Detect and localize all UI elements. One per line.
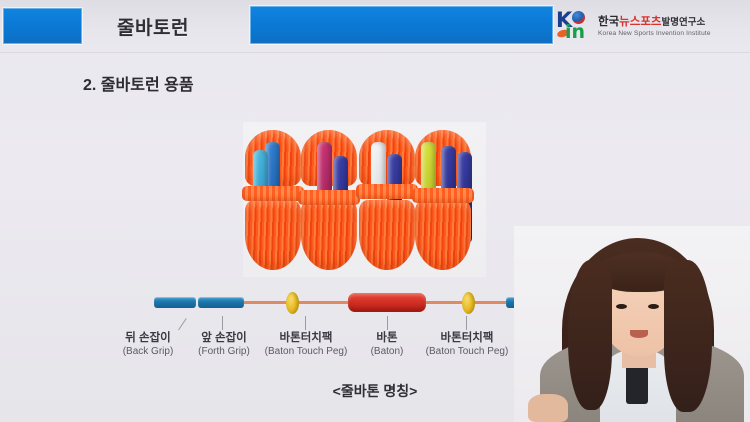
- rope-coil-bottom: [359, 200, 415, 270]
- presenter-hand: [528, 394, 568, 422]
- presenter-hair-right: [664, 260, 712, 412]
- leader-line-baton: [387, 316, 388, 330]
- callout-label-en: (Baton): [357, 345, 417, 358]
- rope-bundle-photo: [243, 122, 486, 277]
- presenter-eye-right: [648, 304, 659, 309]
- rope-coil-bottom: [245, 200, 301, 270]
- logo-korean-prefix: 한국: [598, 16, 619, 28]
- rope-bundle-1: [245, 130, 301, 270]
- rope-band: [356, 184, 418, 199]
- rope-bundle-4: [415, 130, 471, 270]
- leader-line-peg-left: [305, 316, 306, 330]
- rope-bundle-2: [301, 130, 357, 270]
- callout-label-en: (Back Grip): [112, 345, 184, 358]
- rope-coil-bottom: [301, 200, 357, 270]
- presenter-eye-left: [616, 304, 627, 309]
- rope-band: [412, 188, 474, 203]
- callout-baton: 바톤 (Baton): [357, 331, 417, 358]
- logo-korean-suffix: 발명연구소: [662, 17, 706, 28]
- leader-line-back-grip-left: [178, 318, 187, 330]
- logo-korean-accent: 뉴스포츠: [619, 16, 661, 28]
- presenter-hair-left: [568, 260, 612, 410]
- header-accent-block-left: [3, 8, 82, 44]
- logo-icon: K in: [556, 10, 594, 44]
- rope-band: [242, 186, 304, 201]
- institute-logo: K in 한국뉴스포츠발명연구소 Korea New Sports Invent…: [556, 8, 744, 46]
- forth-grip-left: [198, 297, 244, 308]
- page-title: 줄바토런: [117, 13, 189, 40]
- header-accent-block-center: [250, 6, 553, 44]
- baton-touch-peg-right: [462, 292, 475, 314]
- leader-line-forth-grip-left: [222, 316, 223, 330]
- callout-baton-touch-peg-left: 바톤터치팩 (Baton Touch Peg): [249, 331, 363, 358]
- header-divider: [0, 52, 750, 53]
- leader-line-peg-right: [466, 316, 467, 330]
- logo-english-name: Korea New Sports Invention Institute: [598, 29, 711, 38]
- callout-label-kr: 바톤: [357, 331, 417, 345]
- rope-band: [298, 190, 360, 205]
- back-grip-left: [154, 297, 196, 308]
- rope-bundle-3: [359, 130, 415, 270]
- section-heading: 2. 줄바토런 용품: [83, 71, 194, 95]
- presenter-video-overlay: [514, 226, 750, 422]
- logo-korean-name: 한국뉴스포츠발명연구소: [598, 16, 711, 29]
- callout-label-en: (Baton Touch Peg): [249, 345, 363, 358]
- callout-label-kr: 뒤 손잡이: [112, 331, 184, 345]
- baton-body: [348, 293, 426, 312]
- callout-back-grip-left: 뒤 손잡이 (Back Grip): [112, 331, 184, 358]
- presentation-slide: 줄바토런 K in 한국뉴스포츠발명연구소 Korea New Sports I…: [0, 0, 750, 422]
- rope-coil-bottom: [415, 200, 471, 270]
- logo-letter-in: in: [565, 23, 585, 42]
- logo-wordmark: 한국뉴스포츠발명연구소 Korea New Sports Invention I…: [598, 16, 711, 38]
- presenter-mouth: [630, 330, 648, 338]
- callout-label-kr: 바톤터치팩: [249, 331, 363, 345]
- baton-touch-peg-left: [286, 292, 299, 314]
